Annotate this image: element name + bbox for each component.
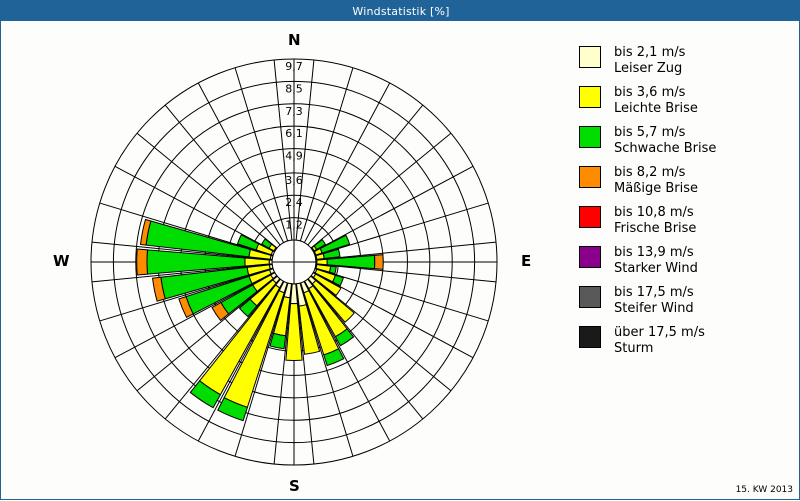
legend-item: bis 17,5 m/sSteifer Wind: [579, 285, 794, 317]
legend-label: bis 10,8 m/sFrische Brise: [614, 205, 696, 237]
legend-name-label: Schwache Brise: [614, 141, 716, 157]
legend-label: über 17,5 m/sSturm: [614, 325, 705, 357]
legend-speed-label: bis 10,8 m/s: [614, 205, 694, 220]
legend-color-swatch: [579, 126, 601, 148]
legend-color-swatch: [579, 246, 601, 268]
legend: bis 2,1 m/sLeiser Zugbis 3,6 m/sLeichte …: [579, 45, 794, 365]
window-title-bar: Windstatistik [%]: [1, 1, 800, 21]
legend-label: bis 5,7 m/sSchwache Brise: [614, 125, 716, 157]
legend-color-swatch: [579, 206, 601, 228]
radial-tick-label: 9,7: [285, 60, 303, 73]
legend-color-swatch: [579, 46, 601, 68]
radial-tick-label: 6,1: [285, 127, 303, 140]
radial-tick-label: 3,6: [285, 174, 303, 187]
legend-label: bis 2,1 m/sLeiser Zug: [614, 45, 685, 77]
legend-speed-label: bis 13,9 m/s: [614, 245, 694, 260]
radial-tick-label: 8,5: [285, 82, 303, 95]
legend-name-label: Mäßige Brise: [614, 181, 698, 197]
legend-item: bis 3,6 m/sLeichte Brise: [579, 85, 794, 117]
legend-label: bis 3,6 m/sLeichte Brise: [614, 85, 698, 117]
compass-label-east: E: [521, 252, 531, 270]
legend-speed-label: bis 8,2 m/s: [614, 165, 685, 180]
footer-week-label: 15. KW 2013: [736, 485, 793, 495]
grid-spoke: [300, 68, 353, 241]
legend-speed-label: bis 2,1 m/s: [614, 45, 685, 60]
legend-item: bis 10,8 m/sFrische Brise: [579, 205, 794, 237]
radial-tick-label: 2,4: [285, 196, 303, 209]
radial-tick-label: 1,2: [285, 219, 303, 232]
wind-petal-segment: [330, 266, 337, 274]
chart-window: Windstatistik [%] 1,22,43,64,96,17,38,59…: [0, 0, 800, 500]
legend-color-swatch: [579, 286, 601, 308]
legend-name-label: Frische Brise: [614, 221, 696, 237]
legend-speed-label: über 17,5 m/s: [614, 325, 705, 340]
legend-name-label: Leiser Zug: [614, 61, 685, 77]
legend-name-label: Steifer Wind: [614, 301, 694, 317]
legend-color-swatch: [579, 86, 601, 108]
legend-color-swatch: [579, 326, 601, 348]
grid-spoke: [235, 68, 288, 241]
radial-tick-label: 7,3: [285, 105, 303, 118]
compass-label-south: S: [289, 477, 300, 495]
wind-petal-segment: [137, 249, 148, 275]
wind-petal-segment: [270, 333, 286, 348]
wind-rose-chart: 1,22,43,64,96,17,38,59,7: [1, 21, 579, 501]
legend-name-label: Leichte Brise: [614, 101, 698, 117]
wind-petal-segment: [375, 255, 384, 270]
legend-speed-label: bis 5,7 m/s: [614, 125, 685, 140]
legend-speed-label: bis 3,6 m/s: [614, 85, 685, 100]
legend-label: bis 13,9 m/sStarker Wind: [614, 245, 698, 277]
compass-label-west: W: [53, 252, 70, 270]
legend-item: bis 8,2 m/sMäßige Brise: [579, 165, 794, 197]
legend-speed-label: bis 17,5 m/s: [614, 285, 694, 300]
legend-item: bis 13,9 m/sStarker Wind: [579, 245, 794, 277]
legend-item: bis 2,1 m/sLeiser Zug: [579, 45, 794, 77]
plot-area: 1,22,43,64,96,17,38,59,7 N E S W bis 2,1…: [1, 21, 800, 501]
legend-name-label: Sturm: [614, 341, 705, 357]
radial-tick-label: 4,9: [285, 150, 303, 163]
legend-label: bis 17,5 m/sSteifer Wind: [614, 285, 694, 317]
grid-spoke: [315, 203, 488, 256]
wind-petal-segment: [317, 259, 327, 264]
window-title: Windstatistik [%]: [352, 5, 449, 18]
legend-item: über 17,5 m/sSturm: [579, 325, 794, 357]
legend-color-swatch: [579, 166, 601, 188]
legend-item: bis 5,7 m/sSchwache Brise: [579, 125, 794, 157]
compass-label-north: N: [288, 31, 301, 49]
legend-name-label: Starker Wind: [614, 261, 698, 277]
legend-label: bis 8,2 m/sMäßige Brise: [614, 165, 698, 197]
